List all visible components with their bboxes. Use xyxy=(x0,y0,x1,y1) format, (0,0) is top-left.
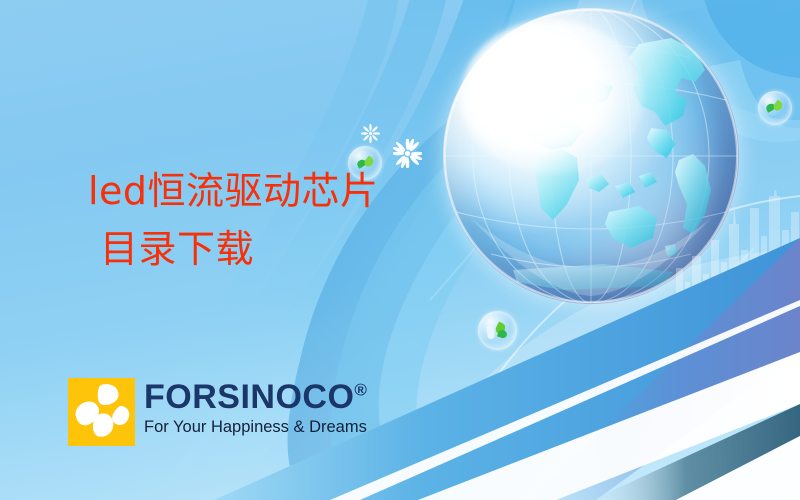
headline-line-2: 目录下载 xyxy=(88,220,379,278)
registered-trademark-icon: ® xyxy=(354,381,367,400)
page-title: led恒流驱动芯片 目录下载 xyxy=(88,162,379,278)
brand-tagline: For Your Happiness & Dreams xyxy=(144,417,367,437)
brand-name-text: FORSINOCO xyxy=(144,378,354,416)
brand-logo[interactable]: FORSINOCO® For Your Happiness & Dreams xyxy=(68,378,367,446)
pinwheel-flower-icon xyxy=(68,378,135,446)
headline-line-1: led恒流驱动芯片 xyxy=(88,162,379,220)
brand-name: FORSINOCO® xyxy=(144,380,367,414)
promo-banner: led恒流驱动芯片 目录下载 FORSINOCO® For Your Happi… xyxy=(0,0,800,500)
brand-text: FORSINOCO® For Your Happiness & Dreams xyxy=(144,378,367,437)
